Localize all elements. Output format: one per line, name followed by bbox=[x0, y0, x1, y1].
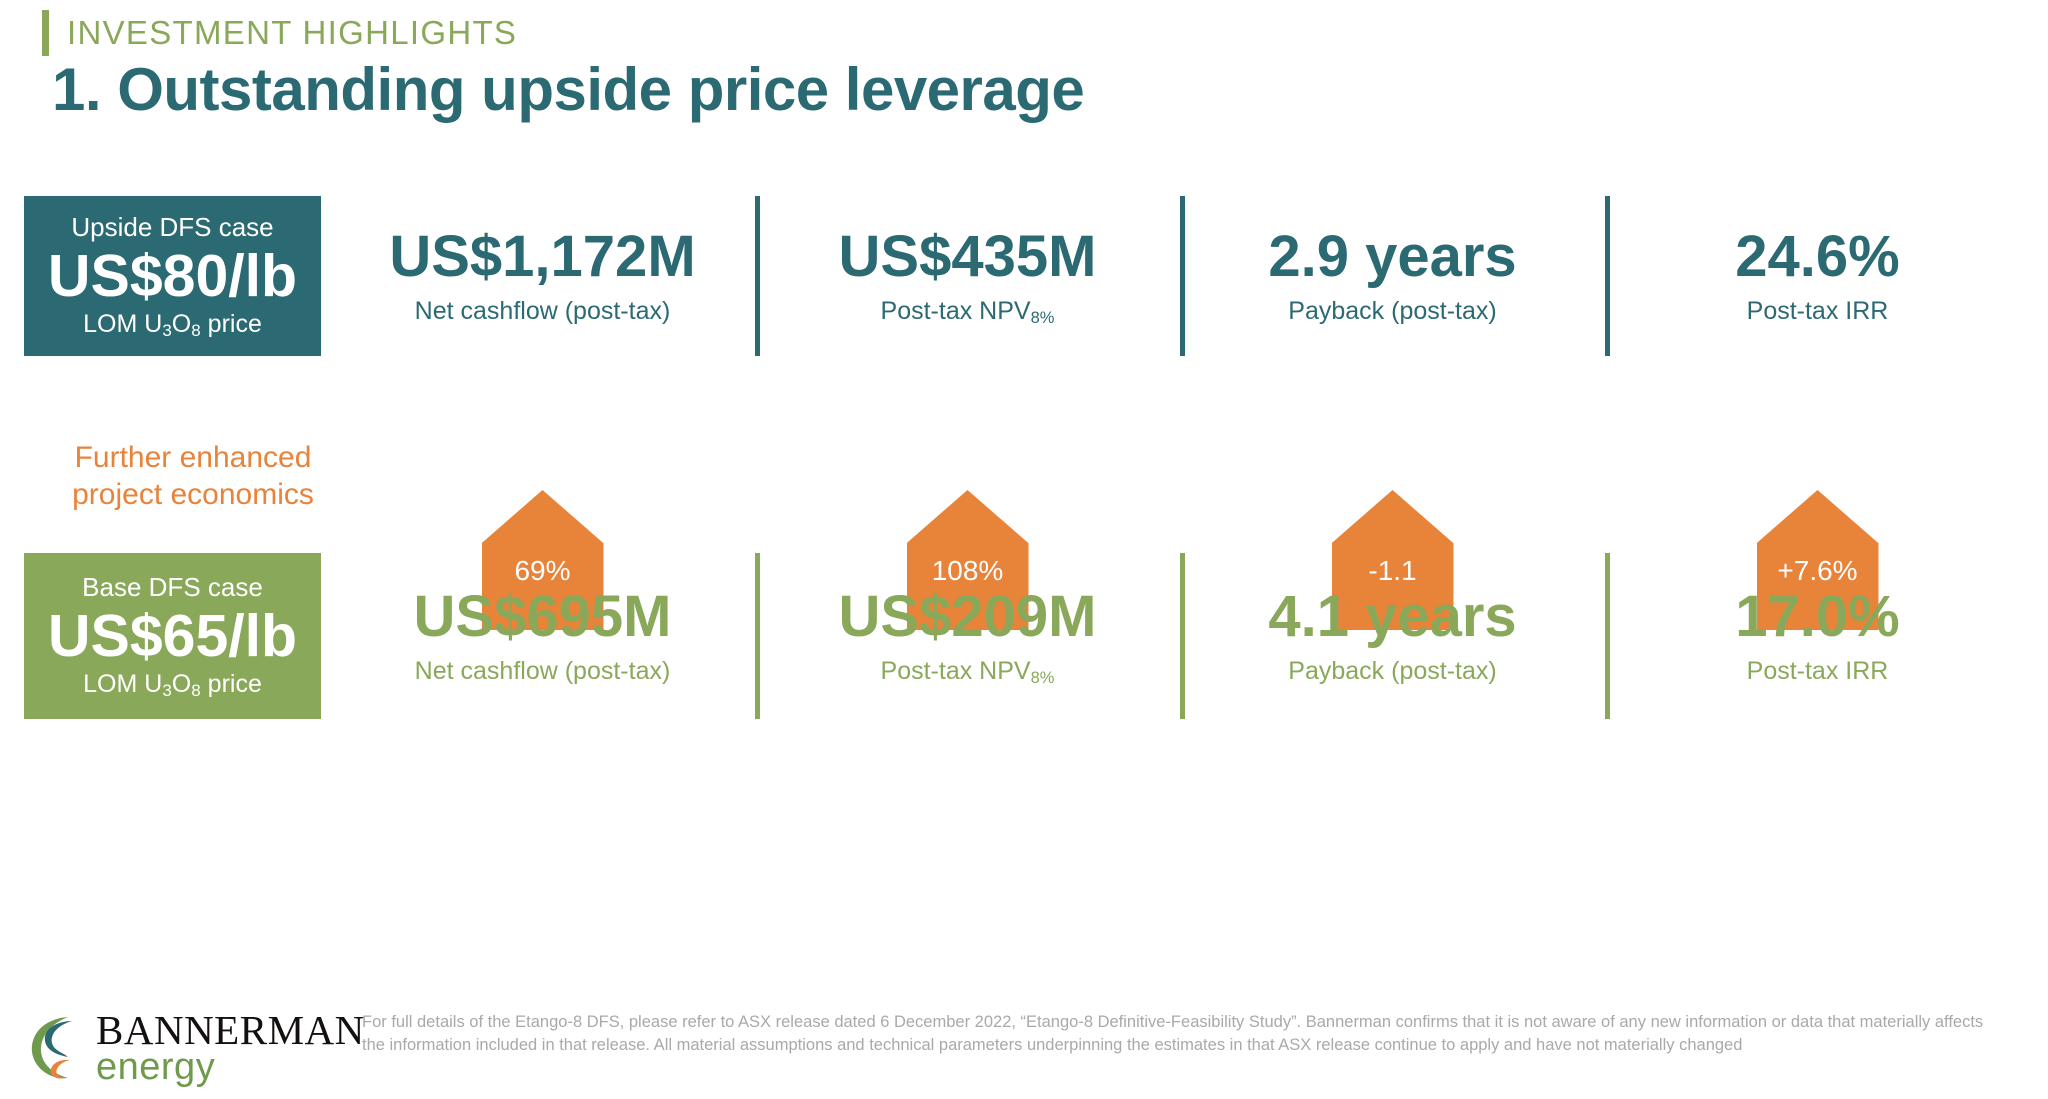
metric-label-text: Post-tax NPV bbox=[881, 657, 1031, 685]
metric-label-text: Net cashflow (post-tax) bbox=[415, 297, 671, 325]
base-case-price: US$65/lb bbox=[48, 603, 297, 669]
metric-label: Post-tax NPV8% bbox=[881, 298, 1055, 326]
upside-case-label: Upside DFS case bbox=[71, 213, 273, 242]
metric-label: Payback (post-tax) bbox=[1288, 658, 1496, 686]
upside-metrics-row: US$1,172M Net cashflow (post-tax) US$435… bbox=[330, 196, 2030, 356]
metric-value: 24.6% bbox=[1735, 227, 1899, 288]
metric-label-text: Net cashflow (post-tax) bbox=[415, 657, 671, 685]
metric-label: Net cashflow (post-tax) bbox=[415, 658, 671, 686]
upside-sub-prefix: LOM U bbox=[83, 310, 162, 338]
metric-label-text: Post-tax IRR bbox=[1747, 657, 1889, 685]
base-case-label: Base DFS case bbox=[82, 573, 263, 602]
upside-sub-3: 3 bbox=[162, 321, 171, 340]
uplift-caption: Further enhanced project economics bbox=[48, 440, 338, 513]
upside-case-box: Upside DFS case US$80/lb LOM U3O8 price bbox=[24, 196, 321, 356]
upside-case-price: US$80/lb bbox=[48, 243, 297, 309]
metric-value: US$1,172M bbox=[389, 227, 695, 288]
base-metrics-row: US$695M Net cashflow (post-tax) US$209M … bbox=[330, 553, 2030, 719]
metric-label: Post-tax IRR bbox=[1747, 658, 1889, 686]
metric-value: US$695M bbox=[414, 587, 672, 648]
metric-label: Post-tax IRR bbox=[1747, 298, 1889, 326]
base-metric-payback: 4.1 years Payback (post-tax) bbox=[1180, 553, 1605, 719]
disclaimer-text: For full details of the Etango-8 DFS, pl… bbox=[362, 1011, 1992, 1057]
bannerman-swirl-icon bbox=[28, 1008, 90, 1084]
base-metric-npv: US$209M Post-tax NPV8% bbox=[755, 553, 1180, 719]
bannerman-logo: BANNERMAN energy bbox=[28, 1002, 348, 1088]
metric-value: US$435M bbox=[839, 227, 1097, 288]
upside-metric-payback: 2.9 years Payback (post-tax) bbox=[1180, 196, 1605, 356]
logo-subwordmark: energy bbox=[96, 1046, 215, 1089]
upside-case-subtitle: LOM U3O8 price bbox=[83, 311, 262, 339]
metric-label-text: Payback (post-tax) bbox=[1288, 297, 1496, 325]
metric-label: Payback (post-tax) bbox=[1288, 298, 1496, 326]
metric-label-text: Payback (post-tax) bbox=[1288, 657, 1496, 685]
base-case-subtitle: LOM U3O8 price bbox=[83, 671, 262, 699]
metric-label-sub: 8% bbox=[1031, 309, 1055, 327]
metric-value: 17.0% bbox=[1735, 587, 1899, 648]
eyebrow-label: INVESTMENT HIGHLIGHTS bbox=[67, 14, 517, 52]
metric-label-text: Post-tax IRR bbox=[1747, 297, 1889, 325]
upside-sub-suffix: price bbox=[201, 310, 262, 338]
base-sub-3: 3 bbox=[162, 681, 171, 700]
upside-metric-npv: US$435M Post-tax NPV8% bbox=[755, 196, 1180, 356]
base-metric-net-cashflow: US$695M Net cashflow (post-tax) bbox=[330, 553, 755, 719]
upside-metric-irr: 24.6% Post-tax IRR bbox=[1605, 196, 2030, 356]
base-metric-irr: 17.0% Post-tax IRR bbox=[1605, 553, 2030, 719]
upside-metric-net-cashflow: US$1,172M Net cashflow (post-tax) bbox=[330, 196, 755, 356]
metric-label: Post-tax NPV8% bbox=[881, 658, 1055, 686]
base-case-box: Base DFS case US$65/lb LOM U3O8 price bbox=[24, 553, 321, 719]
eyebrow-accent-bar bbox=[42, 10, 49, 56]
metric-value: 4.1 years bbox=[1268, 587, 1516, 648]
base-sub-8: 8 bbox=[191, 681, 200, 700]
metric-label-text: Post-tax NPV bbox=[881, 297, 1031, 325]
base-sub-o: O bbox=[172, 670, 191, 698]
uplift-caption-line-1: Further enhanced bbox=[48, 440, 338, 477]
base-sub-suffix: price bbox=[201, 670, 262, 698]
eyebrow-heading: INVESTMENT HIGHLIGHTS bbox=[42, 10, 517, 56]
base-sub-prefix: LOM U bbox=[83, 670, 162, 698]
metric-value: 2.9 years bbox=[1268, 227, 1516, 288]
page-title: 1. Outstanding upside price leverage bbox=[52, 55, 1084, 124]
upside-sub-o: O bbox=[172, 310, 191, 338]
upside-sub-8: 8 bbox=[191, 321, 200, 340]
metric-label-sub: 8% bbox=[1031, 669, 1055, 687]
metric-label: Net cashflow (post-tax) bbox=[415, 298, 671, 326]
uplift-caption-line-2: project economics bbox=[48, 477, 338, 514]
metric-value: US$209M bbox=[839, 587, 1097, 648]
